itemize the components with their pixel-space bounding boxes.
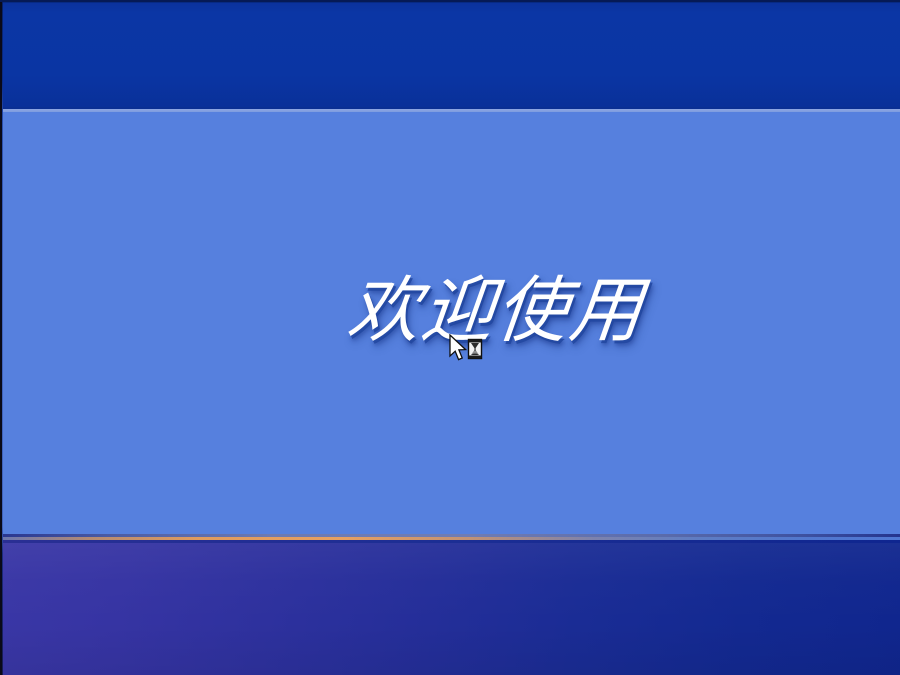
left-edge-border	[0, 0, 2, 675]
welcome-screen: 欢迎使用	[0, 0, 900, 675]
main-field	[0, 112, 900, 537]
bottom-panel-sheen	[0, 543, 900, 675]
top-banner-band	[0, 0, 900, 107]
accent-divider	[0, 534, 900, 543]
top-edge-border	[0, 0, 900, 2]
bottom-panel	[0, 543, 900, 675]
